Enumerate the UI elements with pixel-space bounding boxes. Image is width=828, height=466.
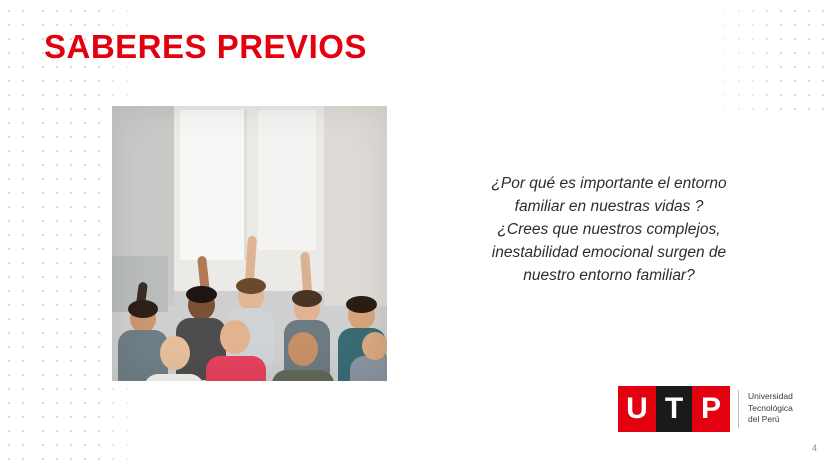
dot-pattern-left: [0, 0, 34, 466]
page-number: 4: [812, 443, 817, 453]
question-line-3: ¿Crees que nuestros complejos,: [455, 218, 763, 241]
question-line-1: ¿Por qué es importante el entorno: [455, 172, 763, 195]
photo-vignette: [112, 106, 387, 381]
page-title: SABERES PREVIOS: [44, 28, 367, 66]
question-line-2: familiar en nuestras vidas ?: [455, 195, 763, 218]
logo-name-line-2: Tecnológica: [748, 403, 810, 415]
logo-name: Universidad Tecnológica del Perú: [748, 391, 810, 426]
classroom-photo: [112, 106, 387, 381]
logo-letter-t: T: [656, 386, 692, 432]
logo-letter-u: U: [618, 386, 656, 432]
slide: SABERES PREVIOS: [0, 0, 828, 466]
question-line-5: nuestro entorno familiar?: [455, 264, 763, 287]
logo-letter-p: P: [692, 386, 730, 432]
dot-pattern-top-right: [660, 0, 828, 120]
question-text: ¿Por qué es importante el entorno famili…: [455, 172, 763, 287]
question-line-4: inestabilidad emocional surgen de: [455, 241, 763, 264]
logo-divider: [738, 390, 739, 428]
logo-name-line-1: Universidad: [748, 391, 810, 403]
utp-logo: U T P Universidad Tecnológica del Perú: [618, 386, 808, 432]
logo-name-line-3: del Perú: [748, 414, 810, 426]
